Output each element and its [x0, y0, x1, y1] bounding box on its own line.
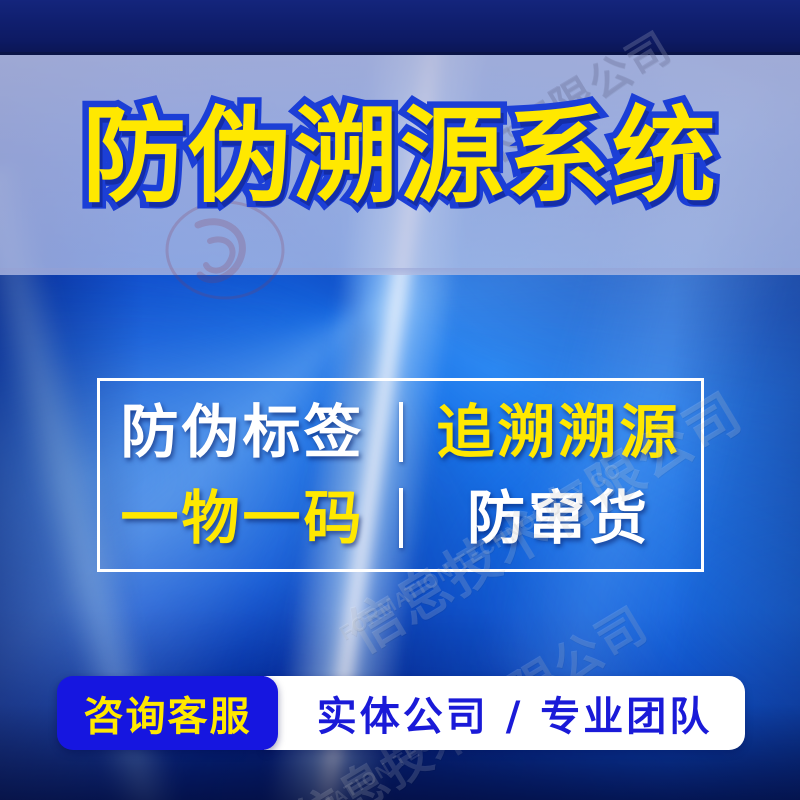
- vertical-divider-icon: [399, 488, 403, 548]
- company-info-label: 实体公司 / 专业团队: [317, 684, 712, 742]
- feature-row: 一物一码 防窜货: [97, 475, 704, 561]
- feature-list: 防伪标签 追溯溯源 一物一码 防窜货: [97, 378, 704, 572]
- title-haze-band-bottom-edge: [0, 268, 800, 275]
- feature-item-fangwei-biaoqian: 防伪标签: [113, 403, 373, 461]
- feature-item-fang-cuanhuo: 防窜货: [429, 489, 689, 547]
- bottom-action-bar: 咨询客服 实体公司 / 专业团队: [57, 676, 745, 750]
- company-info-panel[interactable]: 实体公司 / 专业团队: [264, 676, 745, 750]
- page-title: 防伪溯源系统: [82, 104, 718, 208]
- top-navy-band: [0, 0, 800, 52]
- feature-item-zhuisu-suyuan: 追溯溯源: [429, 403, 689, 461]
- feature-row: 防伪标签 追溯溯源: [97, 389, 704, 475]
- headline-container: 防伪溯源系统: [0, 96, 800, 216]
- feature-item-yiwu-yima: 一物一码: [113, 489, 373, 547]
- consult-service-button[interactable]: 咨询客服: [57, 676, 278, 750]
- vertical-divider-icon: [399, 402, 403, 462]
- poster-canvas: 技术有限公司 NOLOGY CO 防伪溯源系统 防伪标签 追溯溯源 一物一码 防…: [0, 0, 800, 800]
- consult-service-button-label: 咨询客服: [84, 684, 252, 742]
